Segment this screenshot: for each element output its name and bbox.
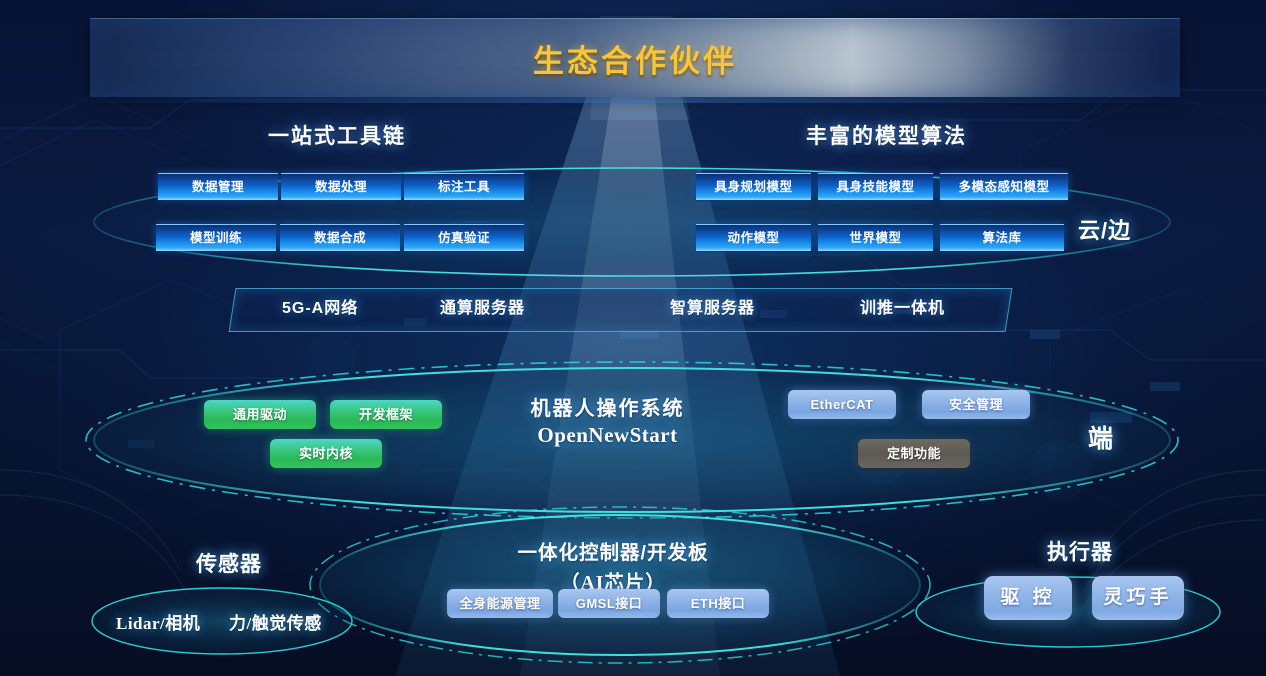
controller-title-line1: 一体化控制器/开发板 xyxy=(448,536,778,565)
header-banner: 生态合作伙伴 xyxy=(90,18,1180,97)
chip-simulation-validation[interactable]: 仿真验证 xyxy=(404,224,524,251)
chip-embodied-skill-model[interactable]: 具身技能模型 xyxy=(818,173,933,200)
pill-eth-interface[interactable]: ETH接口 xyxy=(667,589,769,618)
controller-title-block: 一体化控制器/开发板 （AI芯片） xyxy=(448,536,778,595)
pill-gmsl-interface[interactable]: GMSL接口 xyxy=(558,589,660,618)
diagram-canvas: 生态合作伙伴 一站式工具链 丰富的模型算法 云/边 端 数据管理 数据处理 标注… xyxy=(0,0,1266,676)
pill-whole-body-energy-management[interactable]: 全身能源管理 xyxy=(447,589,553,618)
pill-dexterous-hand[interactable]: 灵巧手 xyxy=(1092,576,1184,620)
chip-data-processing[interactable]: 数据处理 xyxy=(281,173,401,200)
chip-annotation-tool[interactable]: 标注工具 xyxy=(404,173,524,200)
pill-custom-function[interactable]: 定制功能 xyxy=(858,439,970,468)
pill-realtime-kernel[interactable]: 实时内核 xyxy=(270,439,382,468)
chip-embodied-planning-model[interactable]: 具身规划模型 xyxy=(696,173,811,200)
os-title-block: 机器人操作系统 OpenNewStart xyxy=(500,392,715,448)
chip-world-model[interactable]: 世界模型 xyxy=(818,224,933,251)
section-title-models: 丰富的模型算法 xyxy=(806,120,967,150)
chip-model-training[interactable]: 模型训练 xyxy=(156,224,276,251)
os-title-en: OpenNewStart xyxy=(500,423,715,448)
pill-dev-framework[interactable]: 开发框架 xyxy=(330,400,442,429)
os-title-cn: 机器人操作系统 xyxy=(500,392,715,421)
pill-general-driver[interactable]: 通用驱动 xyxy=(204,400,316,429)
banner-title: 生态合作伙伴 xyxy=(533,36,737,81)
layer-label-cloud-edge: 云/边 xyxy=(1078,213,1131,245)
sensors-item-lidar-camera[interactable]: Lidar/相机 xyxy=(116,609,200,634)
layer-label-device: 端 xyxy=(1088,419,1114,455)
chip-data-management[interactable]: 数据管理 xyxy=(158,173,278,200)
sensors-item-force-tactile[interactable]: 力/触觉传感 xyxy=(229,609,322,634)
pill-safety-management[interactable]: 安全管理 xyxy=(922,390,1030,419)
chip-multimodal-perception-model[interactable]: 多模态感知模型 xyxy=(940,173,1068,200)
actuators-title: 执行器 xyxy=(1047,536,1113,566)
chip-action-model[interactable]: 动作模型 xyxy=(696,224,811,251)
pill-drive-control[interactable]: 驱 控 xyxy=(984,576,1072,620)
infra-item-general-compute-server[interactable]: 通算服务器 xyxy=(440,287,525,331)
infra-item-train-inference-appliance[interactable]: 训推一体机 xyxy=(860,287,945,331)
chip-data-synthesis[interactable]: 数据合成 xyxy=(280,224,400,251)
pill-ethercat[interactable]: EtherCAT xyxy=(788,390,896,419)
section-title-toolchain: 一站式工具链 xyxy=(268,120,406,150)
sensors-title: 传感器 xyxy=(196,548,262,578)
infra-item-5ga-network[interactable]: 5G-A网络 xyxy=(282,287,358,331)
infra-item-ai-compute-server[interactable]: 智算服务器 xyxy=(670,287,755,331)
chip-algorithm-library[interactable]: 算法库 xyxy=(940,224,1064,251)
